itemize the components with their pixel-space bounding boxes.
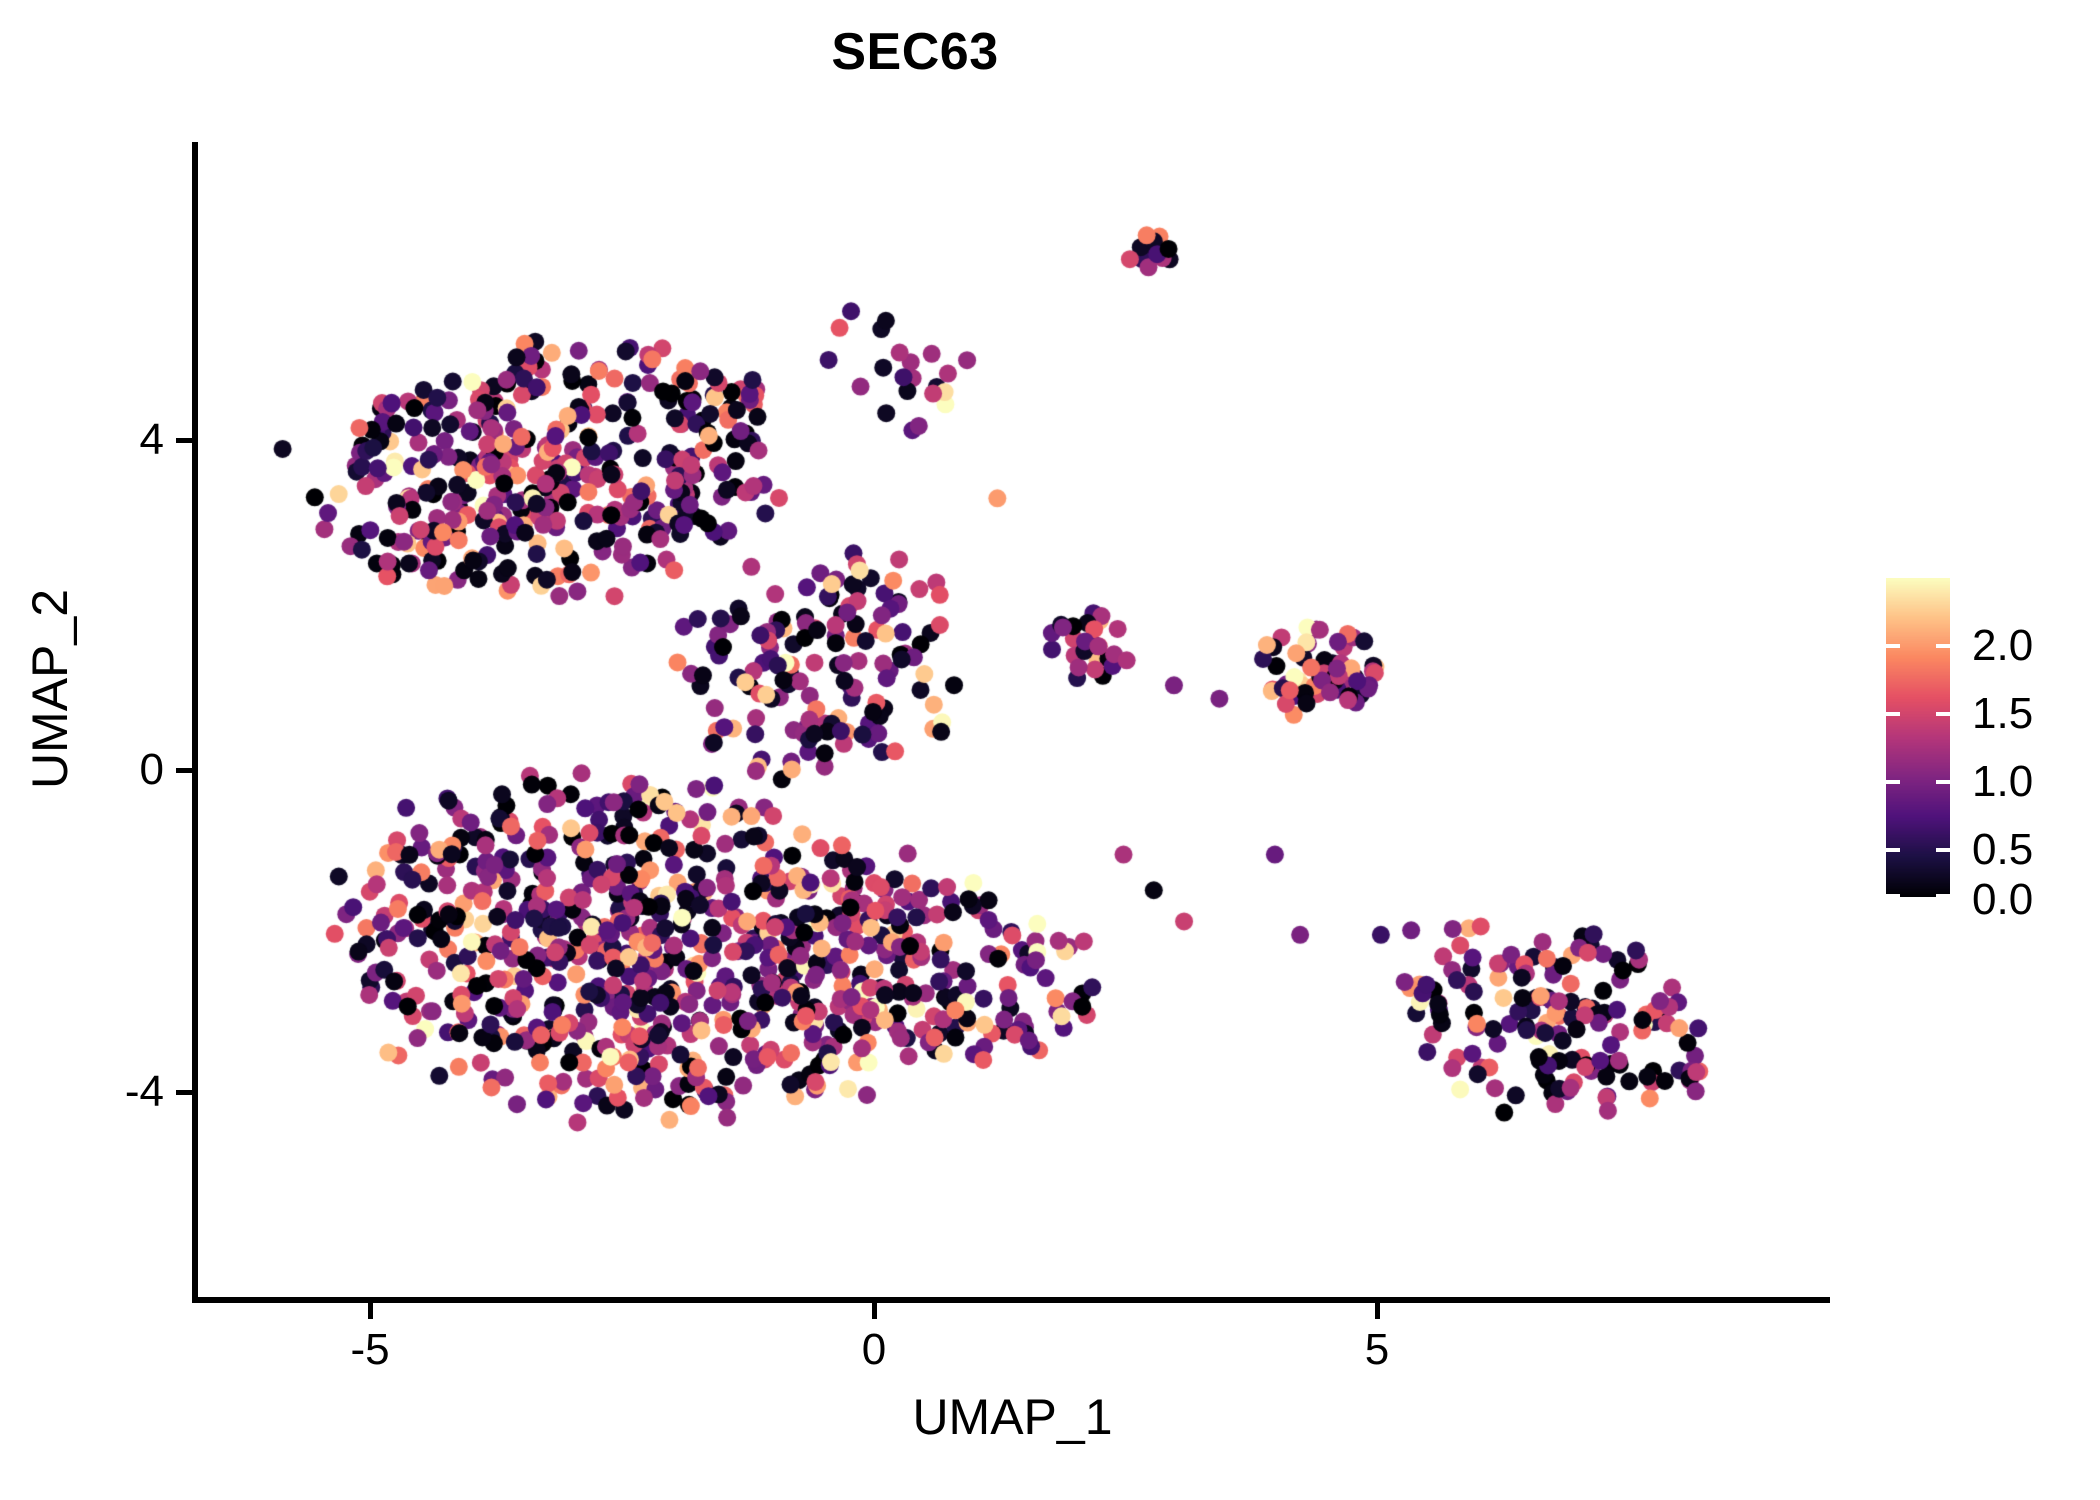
- x-axis-line: [192, 1297, 1830, 1303]
- colorbar-tick-1.0-left: [1886, 780, 1900, 784]
- y-tick-label-0: 0: [140, 745, 164, 795]
- scatter-plot-canvas: [195, 142, 1830, 1300]
- y-axis-line: [192, 142, 198, 1303]
- colorbar-tick-0.5-left: [1886, 848, 1900, 852]
- y-tick-mark-0: [176, 768, 192, 773]
- y-tick-label-neg4: -4: [125, 1067, 164, 1117]
- colorbar-tick-0.0-left: [1886, 894, 1900, 898]
- colorbar-tick-2.0-right: [1936, 644, 1950, 648]
- x-tick-label-0: 0: [862, 1325, 886, 1375]
- x-tick-mark-neg5: [368, 1303, 373, 1319]
- y-tick-label-4: 4: [140, 415, 164, 465]
- colorbar-tick-2.0-left: [1886, 644, 1900, 648]
- page-title: SEC63: [0, 22, 1830, 82]
- colorbar-tick-1.5-left: [1886, 712, 1900, 716]
- colorbar-label-2.0: 2.0: [1972, 621, 2033, 671]
- colorbar-tick-1.0-right: [1936, 780, 1950, 784]
- colorbar-label-0.0: 0.0: [1972, 875, 2033, 925]
- y-tick-mark-neg4: [176, 1090, 192, 1095]
- colorbar-label-1.5: 1.5: [1972, 689, 2033, 739]
- colorbar-label-0.5: 0.5: [1972, 825, 2033, 875]
- x-tick-mark-0: [872, 1303, 877, 1319]
- colorbar-label-1.0: 1.0: [1972, 757, 2033, 807]
- plot-panel: [195, 142, 1830, 1300]
- y-tick-mark-4: [176, 438, 192, 443]
- x-tick-label-neg5: -5: [350, 1325, 389, 1375]
- colorbar-tick-0.5-right: [1936, 848, 1950, 852]
- x-tick-mark-5: [1375, 1303, 1380, 1319]
- x-tick-label-5: 5: [1365, 1325, 1389, 1375]
- x-axis-title: UMAP_1: [195, 1388, 1830, 1446]
- colorbar-legend: 2.0 1.5 1.0 0.5 0.0: [1886, 578, 2086, 908]
- y-axis-title: UMAP_2: [21, 339, 79, 1039]
- figure-root: SEC63 4 0 -4 -5 0 5 UMAP_1 UMAP_2 2.0 1.…: [0, 0, 2100, 1500]
- colorbar-tick-0.0-right: [1936, 894, 1950, 898]
- colorbar-tick-1.5-right: [1936, 712, 1950, 716]
